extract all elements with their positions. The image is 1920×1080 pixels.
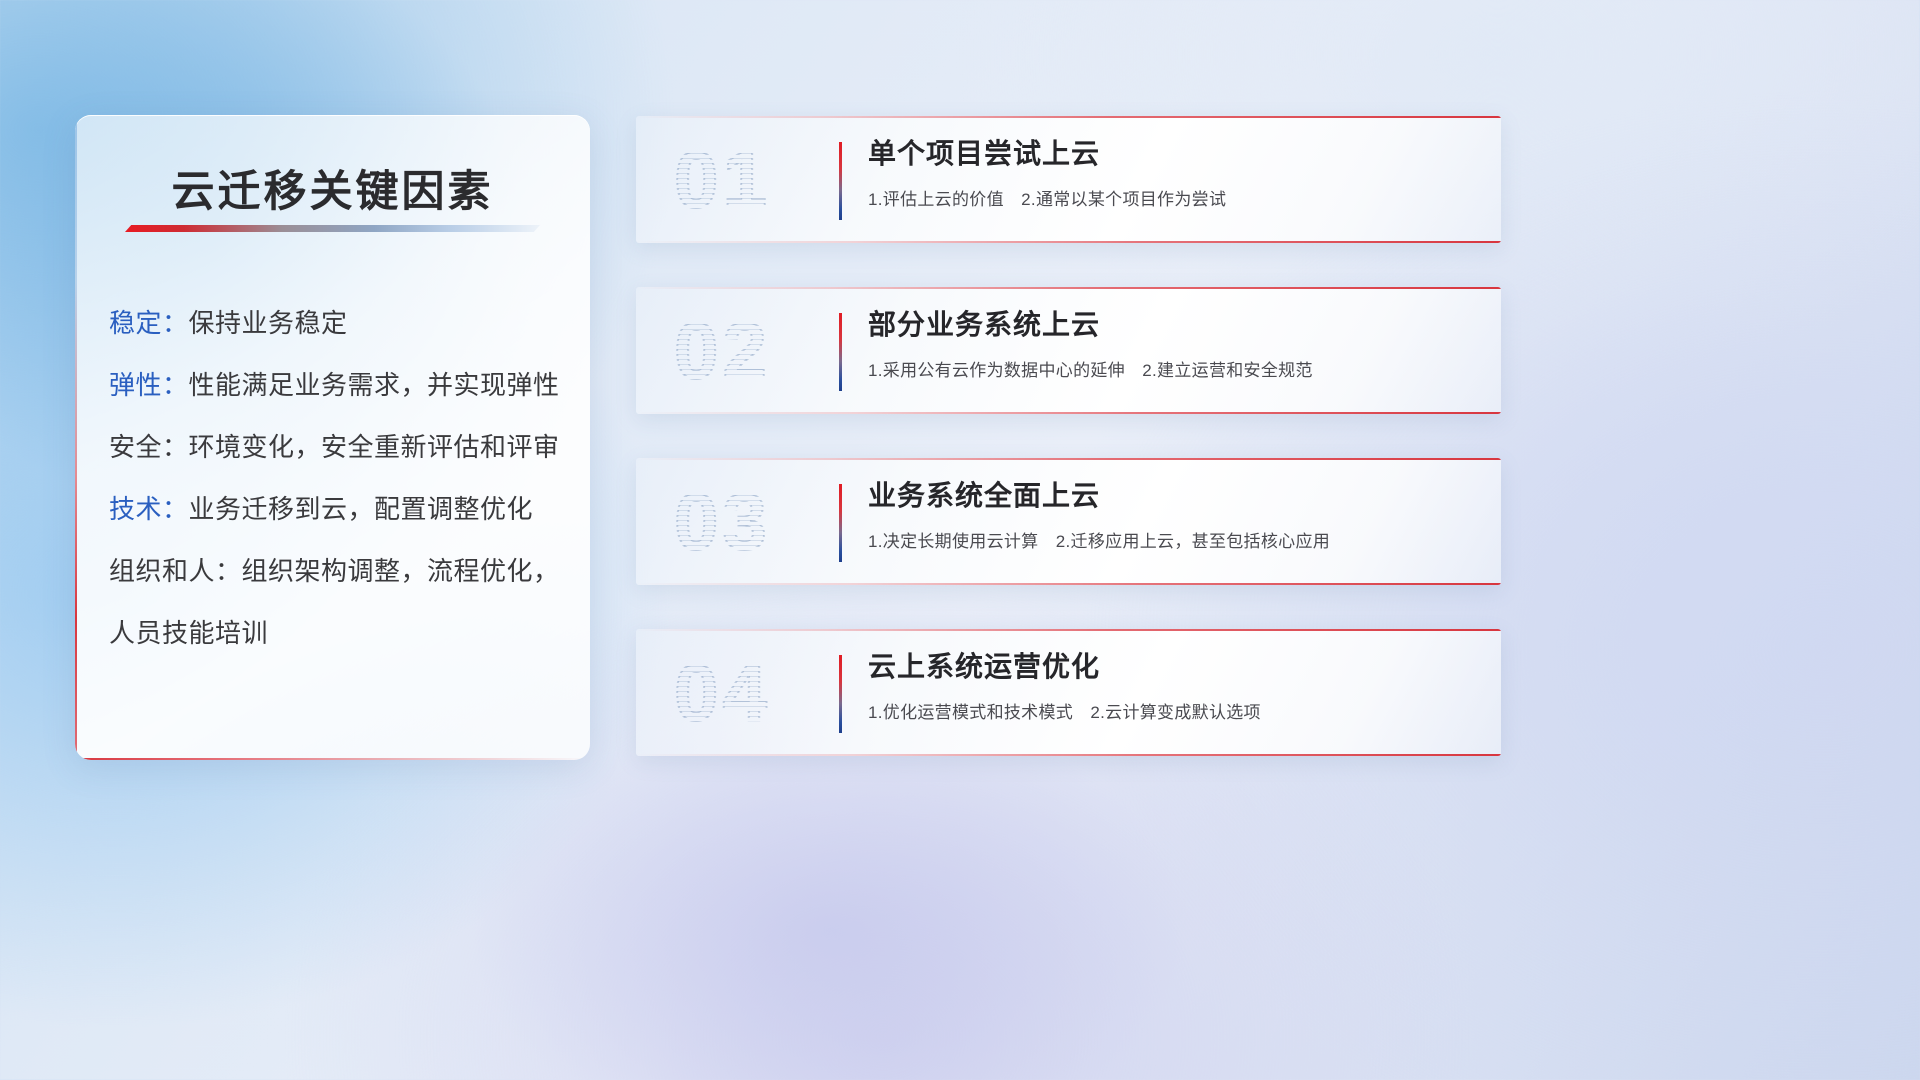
stage-divider-rule (839, 313, 842, 391)
stage-title: 业务系统全面上云 (868, 478, 1477, 513)
key-factor-text: 业务迁移到云，配置调整优化 (189, 494, 534, 524)
stage-title: 云上系统运营优化 (868, 649, 1477, 684)
stage-description: 1.采用公有云作为数据中心的延伸 2.建立运营和安全规范 (868, 356, 1477, 381)
stage-text-block: 云上系统运营优化1.优化运营模式和技术模式 2.云计算变成默认选项 (868, 649, 1477, 723)
stage-card[interactable]: 0404云上系统运营优化1.优化运营模式和技术模式 2.云计算变成默认选项 (636, 629, 1501, 756)
key-factor-label: 组织和人： (109, 556, 242, 586)
key-factor-line: 弹性：性能满足业务需求，并实现弹性 (109, 372, 568, 398)
stage-description: 1.评估上云的价值 2.通常以某个项目作为尝试 (868, 185, 1477, 210)
stage-number-ghost: 01 (674, 128, 824, 232)
key-factor-label: 安全： (109, 432, 189, 462)
stage-title: 单个项目尝试上云 (868, 136, 1477, 171)
stage-text-block: 部分业务系统上云1.采用公有云作为数据中心的延伸 2.建立运营和安全规范 (868, 307, 1477, 381)
stage-card[interactable]: 0101单个项目尝试上云1.评估上云的价值 2.通常以某个项目作为尝试 (636, 116, 1501, 243)
key-factor-line: 人员技能培训 (109, 620, 568, 646)
key-factor-text: 环境变化，安全重新评估和评审 (189, 432, 560, 462)
migration-stage-cards: 0101单个项目尝试上云1.评估上云的价值 2.通常以某个项目作为尝试0202部… (636, 116, 1501, 800)
panel-title: 云迁移关键因素 (75, 157, 590, 219)
stage-number-ghost: 04 (674, 641, 824, 745)
key-factor-label: 弹性： (109, 370, 189, 400)
key-factor-text: 人员技能培训 (109, 618, 268, 648)
key-factor-text: 性能满足业务需求，并实现弹性 (189, 370, 560, 400)
stage-number-ghost: 02 (674, 299, 824, 403)
key-factor-line: 安全：环境变化，安全重新评估和评审 (109, 434, 568, 460)
key-factor-line: 组织和人：组织架构调整，流程优化， (109, 558, 568, 584)
key-factor-label: 技术： (109, 494, 189, 524)
key-factor-text: 组织架构调整，流程优化， (242, 556, 560, 586)
stage-text-block: 业务系统全面上云1.决定长期使用云计算 2.迁移应用上云，甚至包括核心应用 (868, 478, 1477, 552)
stage-card[interactable]: 0202部分业务系统上云1.采用公有云作为数据中心的延伸 2.建立运营和安全规范 (636, 287, 1501, 414)
stage-divider-rule (839, 655, 842, 733)
key-factor-line: 技术：业务迁移到云，配置调整优化 (109, 496, 568, 522)
key-factor-line: 稳定：保持业务稳定 (109, 310, 568, 336)
stage-divider-rule (839, 484, 842, 562)
key-factor-label: 稳定： (109, 308, 189, 338)
key-factor-text: 保持业务稳定 (189, 308, 348, 338)
key-factors-panel: 云迁移关键因素 稳定：保持业务稳定弹性：性能满足业务需求，并实现弹性安全：环境变… (75, 115, 590, 760)
stage-card[interactable]: 0303业务系统全面上云1.决定长期使用云计算 2.迁移应用上云，甚至包括核心应… (636, 458, 1501, 585)
key-factors-list: 稳定：保持业务稳定弹性：性能满足业务需求，并实现弹性安全：环境变化，安全重新评估… (109, 310, 568, 682)
stage-description: 1.决定长期使用云计算 2.迁移应用上云，甚至包括核心应用 (868, 527, 1477, 552)
stage-number-ghost: 03 (674, 470, 824, 574)
stage-title: 部分业务系统上云 (868, 307, 1477, 342)
title-underline-rule (125, 225, 540, 232)
stage-text-block: 单个项目尝试上云1.评估上云的价值 2.通常以某个项目作为尝试 (868, 136, 1477, 210)
stage-description: 1.优化运营模式和技术模式 2.云计算变成默认选项 (868, 698, 1477, 723)
stage-divider-rule (839, 142, 842, 220)
